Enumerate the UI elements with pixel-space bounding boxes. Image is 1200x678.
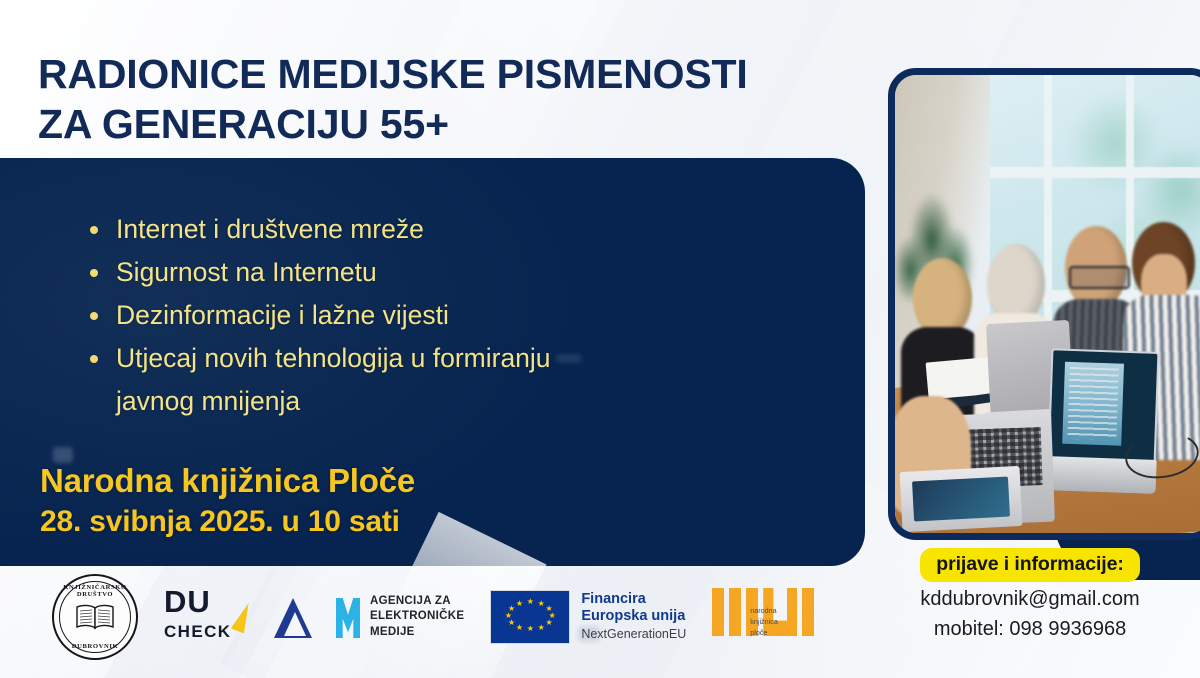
topic-label: Internet i društvene mreže (116, 214, 424, 244)
eu-funding-logo: ★ ★ ★ ★ ★ ★ ★ ★ ★ ★ ★ ★ Financira Europs… (490, 590, 686, 644)
poster-root: RADIONICE MEDIJSKE PISMENOSTI ZA GENERAC… (0, 0, 1200, 678)
seal-text-bottom: DUBROVNIK (54, 643, 136, 650)
ducheck-logo: DU CHECK (164, 586, 248, 648)
aem-logo-icon (274, 592, 360, 642)
nkp-text-line-1: narodna (750, 606, 778, 617)
nkp-bar (802, 588, 814, 636)
aem-logo: AGENCIJA ZA ELEKTRONIČKE MEDIJE (274, 592, 464, 642)
photo-content (895, 75, 1200, 533)
details-panel: Internet i društvene mreže Sigurnost na … (0, 158, 865, 566)
aem-text-line-3: MEDIJE (370, 625, 464, 640)
topic-label: Dezinformacije i lažne vijesti (116, 300, 449, 330)
topic-label: Sigurnost na Internetu (116, 257, 377, 287)
nkp-text-line-2: knjižnica (750, 617, 778, 628)
nkp-logo-text: narodna knjižnica ploče (750, 606, 778, 638)
ducheck-top-text: DU (164, 586, 248, 617)
venue-name: Narodna knjižnica Ploče (40, 460, 415, 502)
photo-laptop-screen (1062, 362, 1123, 446)
logo-strip: KNJIŽNIČARSKO DRUŠTVO (0, 566, 1200, 678)
list-item: Internet i društvene mreže (86, 208, 726, 251)
nkp-text-line-3: ploče (750, 628, 778, 639)
list-item: Utjecaj novih tehnologija u formiranju (86, 337, 726, 380)
narodna-knjiznica-ploce-logo: narodna knjižnica ploče (712, 588, 812, 646)
headline-line-2: ZA GENERACIJU 55+ (38, 99, 838, 149)
photo-window-frame (990, 167, 1200, 178)
aem-text-line-2: ELEKTRONIČKE (370, 609, 464, 624)
list-item: Dezinformacije i lažne vijesti (86, 294, 726, 337)
list-item-continuation: javnog mnijenja (86, 380, 726, 423)
knjiznicarsko-drustvo-logo: KNJIŽNIČARSKO DRUŠTVO (52, 574, 138, 660)
eu-title-line-1: Financira (581, 591, 686, 608)
workshop-photo (888, 68, 1200, 540)
topic-label: Utjecaj novih tehnologija u formiranju (116, 343, 551, 373)
page-title: RADIONICE MEDIJSKE PISMENOSTI ZA GENERAC… (38, 49, 838, 149)
eu-subtitle: NextGenerationEU (581, 627, 686, 643)
photo-tablet (900, 466, 1023, 532)
eu-logo-text: Financira Europska unija NextGenerationE… (581, 591, 686, 643)
eu-title-line-2: Europska unija (581, 608, 686, 625)
venue-datetime-block: Narodna knjižnica Ploče 28. svibnja 2025… (40, 460, 415, 541)
list-item: Sigurnost na Internetu (86, 251, 726, 294)
nkp-bar (729, 588, 741, 636)
logo-row: KNJIŽNIČARSKO DRUŠTVO (52, 574, 812, 660)
topics-list: Internet i društvene mreže Sigurnost na … (86, 208, 726, 423)
photo-glasses (1069, 266, 1130, 290)
seal-text-top: KNJIŽNIČARSKO DRUŠTVO (54, 584, 136, 598)
event-datetime: 28. svibnja 2025. u 10 sati (40, 502, 415, 541)
aem-letter-m (336, 598, 360, 638)
open-book-icon (75, 604, 115, 630)
headline-line-1: RADIONICE MEDIJSKE PISMENOSTI (38, 49, 838, 99)
aem-letter-a-counter (284, 612, 306, 636)
nkp-bar (712, 588, 724, 636)
topic-label: javnog mnijenja (116, 386, 300, 416)
aem-text-line-1: AGENCIJA ZA (370, 594, 464, 609)
aem-logo-text: AGENCIJA ZA ELEKTRONIČKE MEDIJE (370, 594, 464, 640)
eu-flag-icon: ★ ★ ★ ★ ★ ★ ★ ★ ★ ★ ★ ★ (490, 590, 570, 644)
